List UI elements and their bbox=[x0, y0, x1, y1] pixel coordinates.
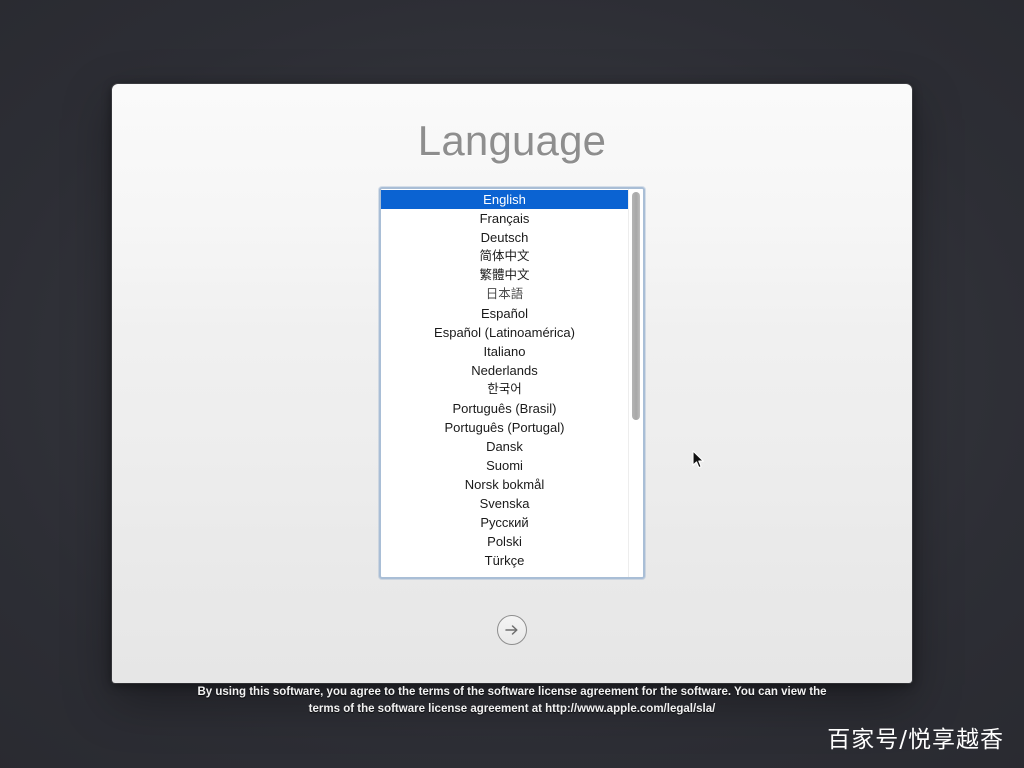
language-list-item[interactable]: Svenska bbox=[381, 494, 628, 513]
language-list-item[interactable]: 한국어 bbox=[381, 380, 628, 399]
license-agreement-text: By using this software, you agree to the… bbox=[0, 684, 1024, 718]
language-list-item[interactable]: Norsk bokmål bbox=[381, 475, 628, 494]
arrow-right-circle-icon bbox=[503, 621, 521, 639]
license-line-2: terms of the software license agreement … bbox=[0, 701, 1024, 718]
language-list-item[interactable]: Türkçe bbox=[381, 551, 628, 570]
arrow-pointer-icon bbox=[692, 450, 706, 470]
language-list-item[interactable]: Deutsch bbox=[381, 228, 628, 247]
language-list-item[interactable]: Español (Latinoamérica) bbox=[381, 323, 628, 342]
language-list-item[interactable]: Suomi bbox=[381, 456, 628, 475]
installer-panel: Language EnglishFrançaisDeutsch简体中文繁體中文日… bbox=[112, 84, 912, 683]
language-list-item[interactable]: 繁體中文 bbox=[381, 266, 628, 285]
page-title: Language bbox=[112, 117, 912, 165]
language-list-item[interactable]: Português (Brasil) bbox=[381, 399, 628, 418]
language-list-item[interactable]: Polski bbox=[381, 532, 628, 551]
language-list-item[interactable]: Русский bbox=[381, 513, 628, 532]
scrollbar-thumb[interactable] bbox=[632, 192, 640, 420]
language-list-item[interactable]: Français bbox=[381, 209, 628, 228]
language-list-item[interactable]: Italiano bbox=[381, 342, 628, 361]
language-list-item[interactable]: 日本語 bbox=[381, 285, 628, 304]
language-list-item[interactable]: Dansk bbox=[381, 437, 628, 456]
license-line-1: By using this software, you agree to the… bbox=[197, 686, 826, 698]
language-list-item[interactable]: English bbox=[381, 190, 628, 209]
language-list-scrollbar[interactable] bbox=[628, 189, 643, 577]
language-list-item[interactable]: 简体中文 bbox=[381, 247, 628, 266]
watermark: 百家号/悦享越香 bbox=[827, 720, 1004, 754]
language-list-item[interactable]: Español bbox=[381, 304, 628, 323]
language-list-item[interactable]: Nederlands bbox=[381, 361, 628, 380]
language-list-item[interactable]: Português (Portugal) bbox=[381, 418, 628, 437]
continue-button[interactable] bbox=[497, 615, 527, 645]
language-list[interactable]: EnglishFrançaisDeutsch简体中文繁體中文日本語Español… bbox=[381, 189, 628, 577]
language-listbox[interactable]: EnglishFrançaisDeutsch简体中文繁體中文日本語Español… bbox=[379, 187, 645, 579]
desktop-background: Language EnglishFrançaisDeutsch简体中文繁體中文日… bbox=[0, 0, 1024, 768]
